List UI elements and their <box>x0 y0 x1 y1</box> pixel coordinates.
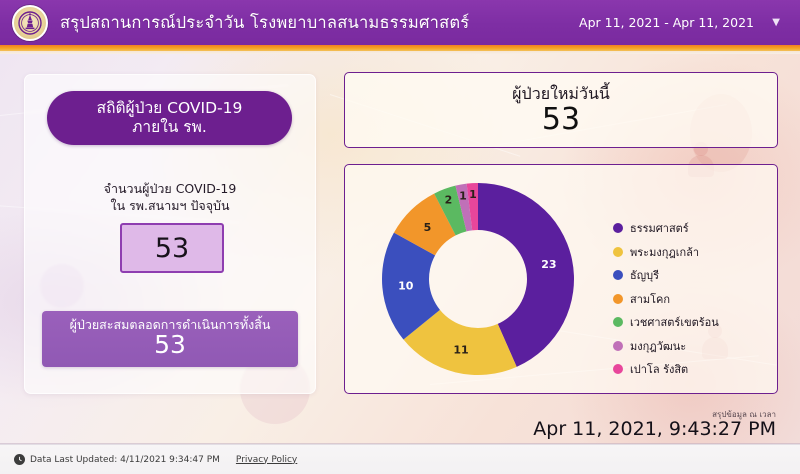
legend-color-swatch <box>613 270 623 280</box>
legend-label: ธรรมศาสตร์ <box>630 219 689 237</box>
legend-item[interactable]: เวชศาสตร์เขตร้อน <box>613 313 777 331</box>
legend-color-swatch <box>613 364 623 374</box>
new-cases-value: 53 <box>542 104 580 136</box>
hospital-distribution-panel: 2311105211 ธรรมศาสตร์พระมงกุฎเกล้าธัญบุร… <box>344 164 778 394</box>
new-cases-panel: ผู้ป่วยใหม่วันนี้ 53 <box>344 72 778 148</box>
legend-color-swatch <box>613 247 623 257</box>
left-panel-header-pill: สถิติผู้ป่วย COVID-19 ภายใน รพ. <box>47 91 292 145</box>
current-patients-label: จำนวนผู้ป่วย COVID-19 ใน รพ.สนามฯ ปัจจุบ… <box>25 181 315 215</box>
dashboard-root: สรุปสถานการณ์ประจำวัน โรงพยาบาลสนามธรรมศ… <box>0 0 800 474</box>
donut-segment-value: 11 <box>453 344 468 357</box>
clock-icon <box>14 454 25 465</box>
legend-item[interactable]: พระมงกุฎเกล้า <box>613 243 777 261</box>
legend-item[interactable]: ธรรมศาสตร์ <box>613 219 777 237</box>
cumulative-patients-value: 53 <box>154 331 186 360</box>
legend-item[interactable]: เปาโล รังสิต <box>613 360 777 378</box>
legend-label: เวชศาสตร์เขตร้อน <box>630 313 719 331</box>
legend-label: ธัญบุรี <box>630 266 659 284</box>
cumulative-patients-card: ผู้ป่วยสะสมตลอดการดำเนินการทั้งสิ้น 53 <box>42 311 298 367</box>
legend-color-swatch <box>613 223 623 233</box>
legend-label: พระมงกุฎเกล้า <box>630 243 699 261</box>
current-patients-label-line2: ใน รพ.สนามฯ ปัจจุบัน <box>25 198 315 215</box>
legend-color-swatch <box>613 317 623 327</box>
legend-color-swatch <box>613 341 623 351</box>
donut-segment-value: 23 <box>541 258 556 271</box>
legend-label: มงกุฎวัฒนะ <box>630 337 686 355</box>
legend-item[interactable]: สามโคก <box>613 290 777 308</box>
legend-item[interactable]: มงกุฎวัฒนะ <box>613 337 777 355</box>
thammasat-seal-logo <box>12 5 48 41</box>
pill-title-line1: สถิติผู้ป่วย COVID-19 <box>97 99 243 118</box>
chart-legend: ธรรมศาสตร์พระมงกุฎเกล้าธัญบุรีสามโคกเวชศ… <box>613 219 777 384</box>
current-patients-value-box: 53 <box>120 223 224 273</box>
summary-timestamp-value: Apr 11, 2021, 9:43:27 PM <box>416 418 776 440</box>
status-bar: Data Last Updated: 4/11/2021 9:34:47 PM … <box>0 444 800 474</box>
page-title: สรุปสถานการณ์ประจำวัน โรงพยาบาลสนามธรรมศ… <box>60 10 469 36</box>
legend-item[interactable]: ธัญบุรี <box>613 266 777 284</box>
donut-segment-value: 2 <box>445 193 453 206</box>
left-stats-panel: สถิติผู้ป่วย COVID-19 ภายใน รพ. จำนวนผู้… <box>24 74 316 394</box>
current-patients-label-line1: จำนวนผู้ป่วย COVID-19 <box>25 181 315 198</box>
donut-segment-value: 1 <box>469 188 477 201</box>
new-cases-label: ผู้ป่วยใหม่วันนี้ <box>512 85 610 103</box>
date-range-selector[interactable]: Apr 11, 2021 - Apr 11, 2021 <box>579 0 754 45</box>
app-header: สรุปสถานการณ์ประจำวัน โรงพยาบาลสนามธรรมศ… <box>0 0 800 45</box>
donut-chart: 2311105211 <box>353 171 603 387</box>
legend-color-swatch <box>613 294 623 304</box>
donut-segment-value: 5 <box>424 221 432 234</box>
donut-segment-value: 1 <box>459 189 467 202</box>
chevron-down-icon[interactable]: ▼ <box>772 0 780 45</box>
data-last-updated-text: Data Last Updated: 4/11/2021 9:34:47 PM <box>30 455 220 465</box>
legend-label: สามโคก <box>630 290 670 308</box>
pill-title-line2: ภายใน รพ. <box>132 118 207 137</box>
legend-label: เปาโล รังสิต <box>630 360 688 378</box>
privacy-policy-link[interactable]: Privacy Policy <box>236 455 297 465</box>
donut-segment-value: 10 <box>398 279 414 292</box>
